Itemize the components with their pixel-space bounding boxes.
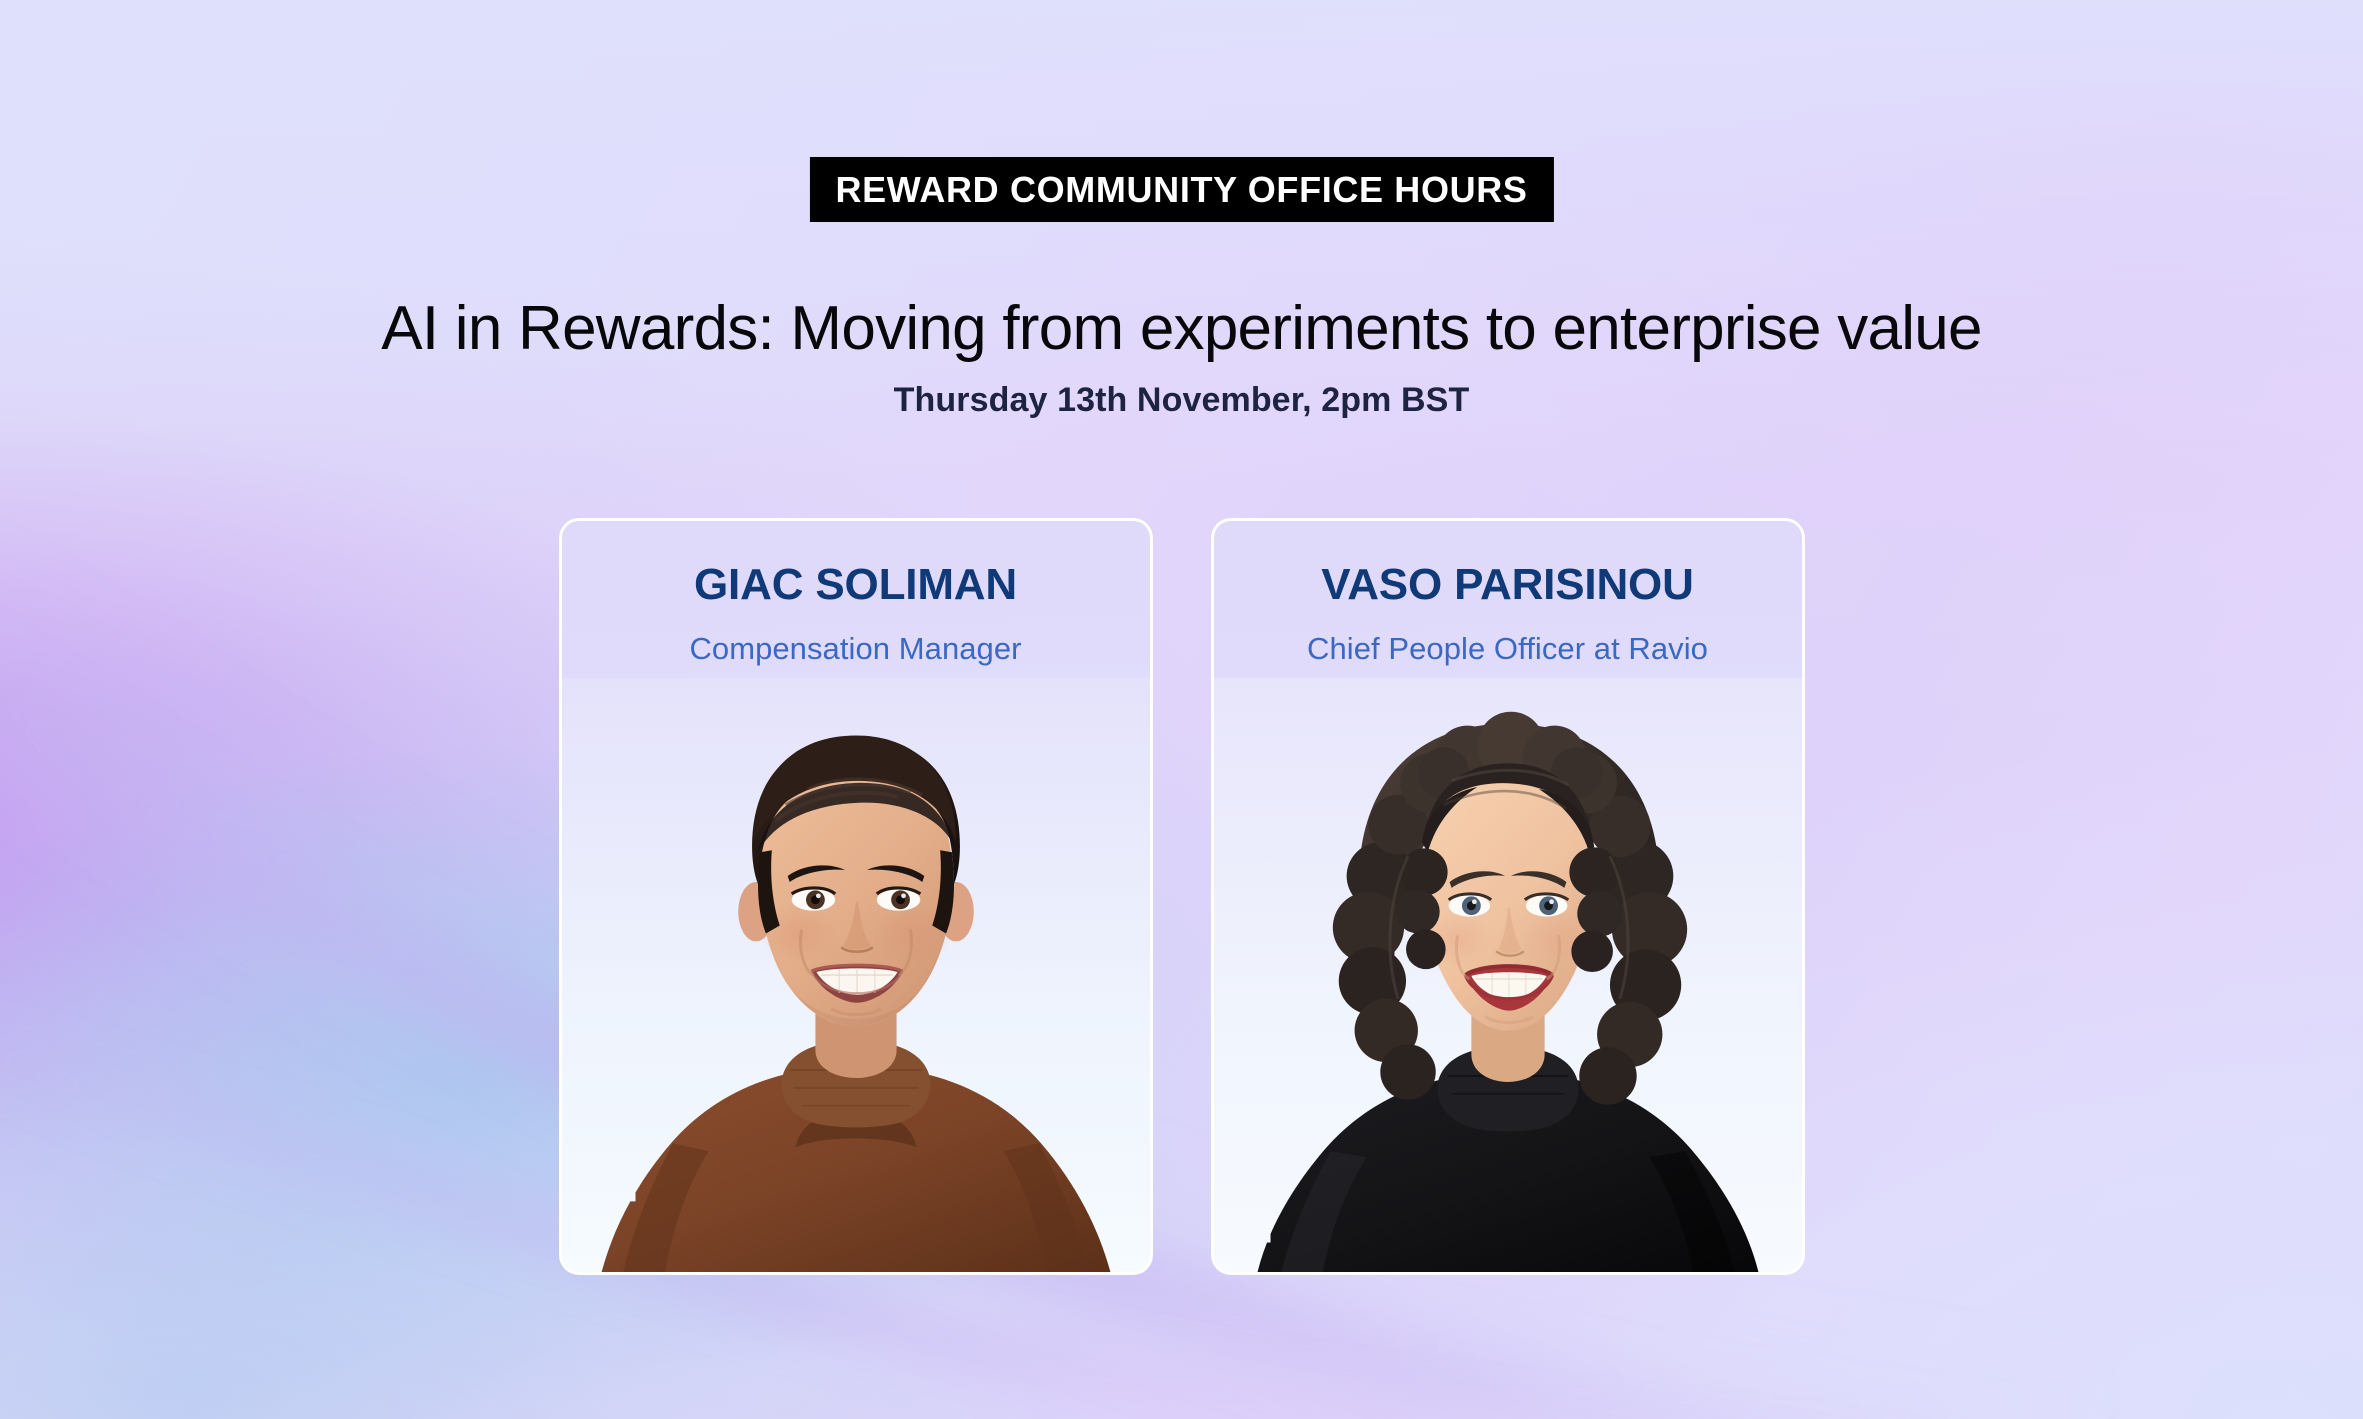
speaker-role: Chief People Officer at Ravio	[1307, 631, 1708, 667]
speaker-card: GIAC SOLIMAN Compensation Manager	[559, 518, 1153, 1275]
speaker-name: VASO PARISINOU	[1321, 563, 1693, 607]
speaker-cards-row: GIAC SOLIMAN Compensation Manager	[559, 518, 1805, 1275]
eyebrow-banner: REWARD COMMUNITY OFFICE HOURS	[809, 157, 1553, 222]
speaker-photo	[562, 672, 1150, 1272]
poster-content: REWARD COMMUNITY OFFICE HOURS AI in Rewa…	[0, 0, 2363, 1419]
page-title: AI in Rewards: Moving from experiments t…	[82, 296, 2282, 362]
event-datetime: Thursday 13th November, 2pm BST	[82, 380, 2282, 421]
speaker-card: VASO PARISINOU Chief People Officer at R…	[1211, 518, 1805, 1275]
speaker-photo	[1214, 672, 1802, 1272]
speaker-role: Compensation Manager	[689, 631, 1021, 667]
speaker-name: GIAC SOLIMAN	[694, 563, 1017, 607]
